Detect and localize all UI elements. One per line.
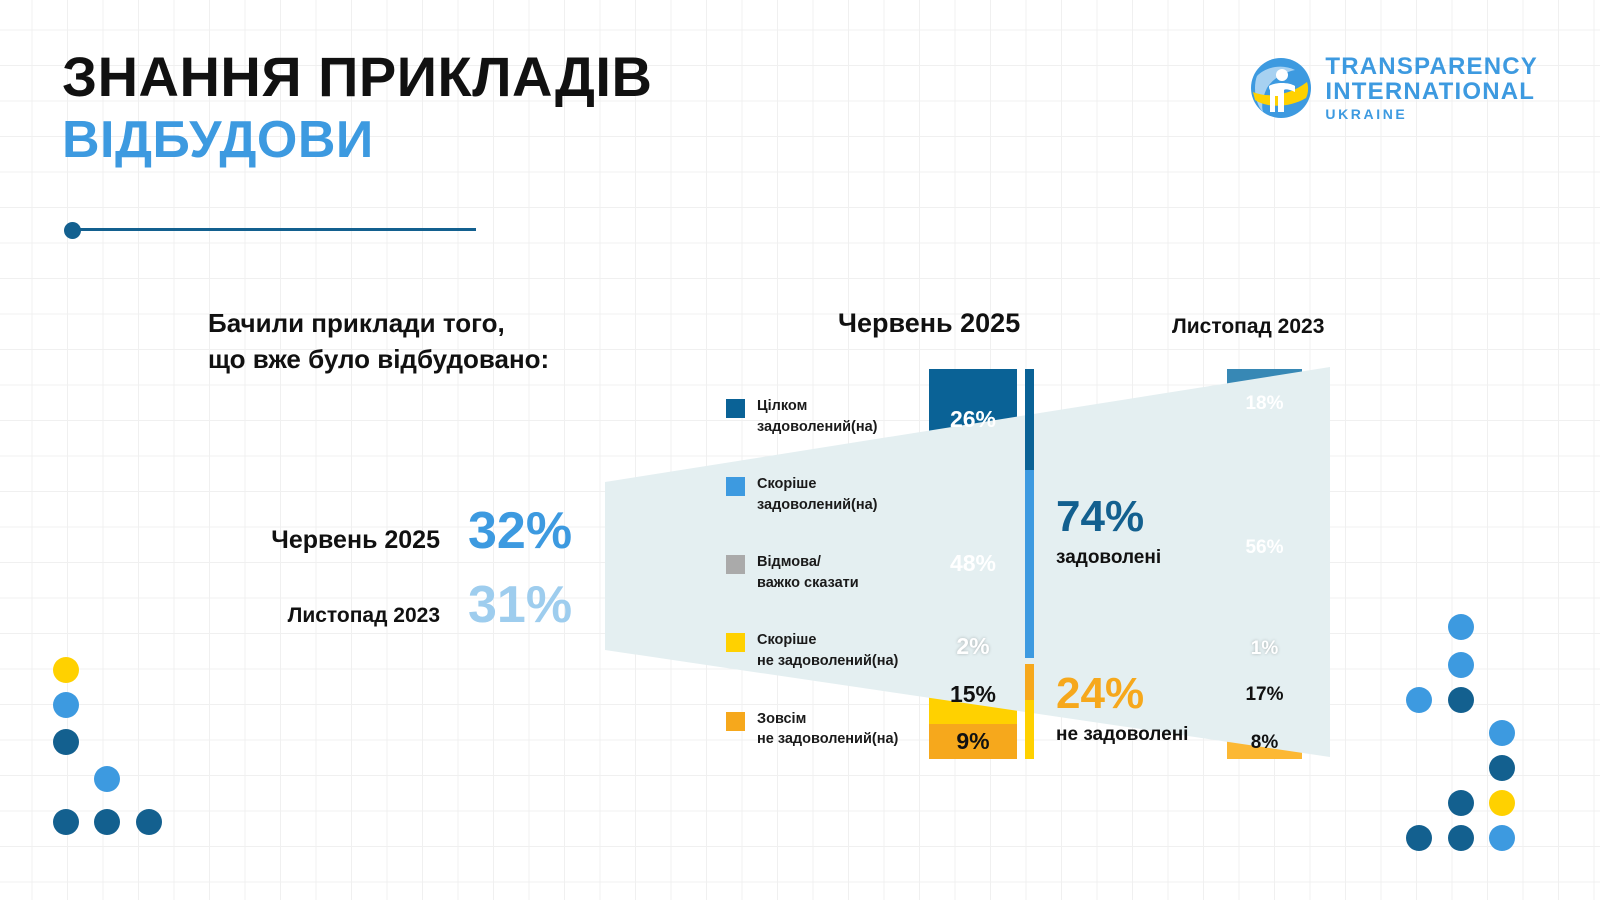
survey-question: Бачили приклади того, що вже було відбуд… — [208, 306, 549, 378]
bar-segment: 48% — [929, 470, 1017, 657]
decorative-dot — [136, 809, 162, 835]
bar-title-2023: Листопад 2023 — [1172, 315, 1324, 339]
bar-segment-label: 9% — [956, 728, 989, 755]
decorative-dot — [1448, 652, 1474, 678]
ti-ukraine-logo: TRANSPARENCY INTERNATIONAL UKRAINE — [1249, 55, 1538, 121]
decorative-dot — [53, 692, 79, 718]
survey-question-line-2: що вже було відбудовано: — [208, 342, 549, 378]
stacked-bar-2023: 18%56%1%17%8% — [1227, 369, 1302, 759]
bar-segment: 26% — [929, 369, 1017, 470]
stacked-bar-2025: 26%48%2%15%9% — [929, 369, 1017, 759]
bar-segment-label: 1% — [1251, 638, 1278, 660]
callout-satisfied-value: 74% — [1056, 495, 1161, 539]
decorative-dot — [94, 766, 120, 792]
bar-title-2025: Червень 2025 — [838, 308, 1020, 339]
bar-segment: 17% — [1227, 661, 1302, 727]
bar-segment-label: 56% — [1245, 537, 1283, 559]
comparison-label-2025: Червень 2025 — [271, 526, 440, 555]
logo-line-3: UKRAINE — [1325, 107, 1538, 121]
decorative-dot — [1489, 755, 1515, 781]
legend-item-refusal: Відмова/ важко сказати — [726, 552, 936, 593]
legend-label-fully-satisfied: Цілком задоволений(на) — [757, 396, 878, 437]
logo-line-2: INTERNATIONAL — [1325, 80, 1538, 104]
comparison-row-2023: Листопад 2023 31% — [190, 579, 590, 653]
bar-segment-label: 48% — [950, 550, 996, 577]
bar-segment-label: 17% — [1245, 684, 1283, 706]
infographic-canvas: ЗНАННЯ ПРИКЛАДІВ ВІДБУДОВИ TRANSPARENCY … — [0, 0, 1600, 900]
comparison-row-2025: Червень 2025 32% — [190, 505, 590, 579]
bar-segment-label: 15% — [950, 681, 996, 708]
bar-segment: 2% — [929, 658, 1017, 666]
decorative-dot — [1448, 614, 1474, 640]
callout-dissatisfied: 24% не задоволені — [1056, 672, 1188, 746]
comparison-value-2025: 32% — [468, 505, 590, 557]
bar-segment-label: 8% — [1251, 732, 1278, 754]
title-line-2: ВІДБУДОВИ — [62, 113, 652, 168]
logo-wordmark: TRANSPARENCY INTERNATIONAL UKRAINE — [1325, 55, 1538, 121]
legend-item-fully-satisfied: Цілком задоволений(на) — [726, 396, 936, 437]
decorative-dot — [53, 729, 79, 755]
bar-segment: 56% — [1227, 439, 1302, 657]
legend-item-fully-dissatisfied: Зовсім не задоволений(на) — [726, 709, 936, 750]
decorative-dot — [53, 657, 79, 683]
legend-swatch-rather-dissatisfied — [726, 633, 745, 652]
page-title: ЗНАННЯ ПРИКЛАДІВ ВІДБУДОВИ — [62, 48, 652, 167]
bar-segment-label: 2% — [956, 633, 989, 660]
legend-label-fully-dissatisfied: Зовсім не задоволений(на) — [757, 709, 898, 750]
bar-segment: 15% — [929, 665, 1017, 724]
title-line-1: ЗНАННЯ ПРИКЛАДІВ — [62, 48, 652, 107]
logo-line-1: TRANSPARENCY — [1325, 55, 1538, 79]
decorative-dot — [1448, 687, 1474, 713]
legend-label-rather-satisfied: Скоріше задоволений(на) — [757, 474, 878, 515]
dissatisfied-indicator-strip — [1025, 664, 1034, 759]
globe-figure-icon — [1249, 56, 1313, 120]
bar-segment-label: 26% — [950, 406, 996, 433]
bar-segment: 9% — [929, 724, 1017, 759]
decorative-dot — [1448, 790, 1474, 816]
callout-dissatisfied-value: 24% — [1056, 672, 1188, 716]
decorative-dot — [1489, 825, 1515, 851]
decorative-dot — [1489, 790, 1515, 816]
bar-segment-label: 18% — [1245, 393, 1283, 415]
decorative-dot — [1448, 825, 1474, 851]
legend-swatch-fully-satisfied — [726, 399, 745, 418]
legend-item-rather-dissatisfied: Скоріше не задоволений(на) — [726, 630, 936, 671]
chart-legend: Цілком задоволений(на) Скоріше задоволен… — [726, 396, 936, 750]
legend-item-rather-satisfied: Скоріше задоволений(на) — [726, 474, 936, 515]
survey-question-line-1: Бачили приклади того, — [208, 306, 549, 342]
comparison-label-2023: Листопад 2023 — [288, 604, 440, 628]
legend-label-refusal: Відмова/ важко сказати — [757, 552, 859, 593]
comparison-value-2023: 31% — [468, 579, 590, 631]
satisfied-indicator-strip — [1025, 369, 1034, 658]
decorative-dot — [94, 809, 120, 835]
title-underline-line — [79, 228, 476, 231]
bar-segment: 8% — [1227, 728, 1302, 759]
callout-dissatisfied-label: не задоволені — [1056, 724, 1188, 746]
decorative-dot — [1406, 687, 1432, 713]
legend-swatch-rather-satisfied — [726, 477, 745, 496]
decorative-dot — [1406, 825, 1432, 851]
seen-examples-comparison: Червень 2025 32% Листопад 2023 31% — [190, 505, 590, 653]
callout-satisfied-label: задоволені — [1056, 547, 1161, 569]
legend-swatch-refusal — [726, 555, 745, 574]
legend-label-rather-dissatisfied: Скоріше не задоволений(на) — [757, 630, 898, 671]
decorative-dot — [1489, 720, 1515, 746]
title-underline — [64, 220, 476, 240]
callout-satisfied: 74% задоволені — [1056, 495, 1161, 569]
legend-swatch-fully-dissatisfied — [726, 712, 745, 731]
bar-segment: 18% — [1227, 369, 1302, 439]
decorative-dot — [53, 809, 79, 835]
